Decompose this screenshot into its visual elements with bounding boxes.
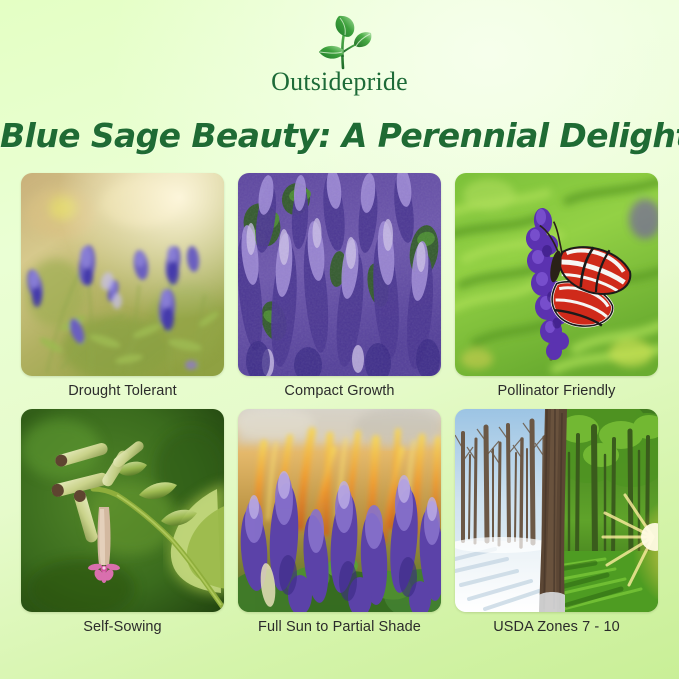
image-pollinator-friendly <box>455 173 658 376</box>
image-full-sun-partial-shade <box>238 409 441 612</box>
caption-usda-zones: USDA Zones 7 - 10 <box>455 619 658 635</box>
caption-compact-growth: Compact Growth <box>238 383 441 399</box>
caption-self-sowing: Self-Sowing <box>21 619 224 635</box>
image-drought-tolerant <box>21 173 224 376</box>
gallery-item-self-sowing: Self-Sowing <box>21 409 224 635</box>
gallery-item-usda-zones: USDA Zones 7 - 10 <box>455 409 658 635</box>
page-title: Blue Sage Beauty: A Perennial Delight <box>0 116 679 155</box>
caption-pollinator-friendly: Pollinator Friendly <box>455 383 658 399</box>
infographic-poster: Outsidepride Blue Sage Beauty: A Perenni… <box>0 0 679 679</box>
feature-gallery: Drought Tolerant <box>21 173 658 635</box>
image-usda-zones <box>455 409 658 612</box>
gallery-item-pollinator-friendly: Pollinator Friendly <box>455 173 658 399</box>
gallery-item-compact-growth: Compact Growth <box>238 173 441 399</box>
gallery-item-drought-tolerant: Drought Tolerant <box>21 173 224 399</box>
sprout-leaves-icon <box>297 12 383 70</box>
brand-wordmark: Outsidepride <box>0 68 679 97</box>
image-self-sowing <box>21 409 224 612</box>
image-compact-growth <box>238 173 441 376</box>
caption-drought-tolerant: Drought Tolerant <box>21 383 224 399</box>
gallery-item-full-sun-partial-shade: Full Sun to Partial Shade <box>238 409 441 635</box>
brand-logo: Outsidepride <box>0 12 679 97</box>
caption-full-sun-partial-shade: Full Sun to Partial Shade <box>238 619 441 635</box>
